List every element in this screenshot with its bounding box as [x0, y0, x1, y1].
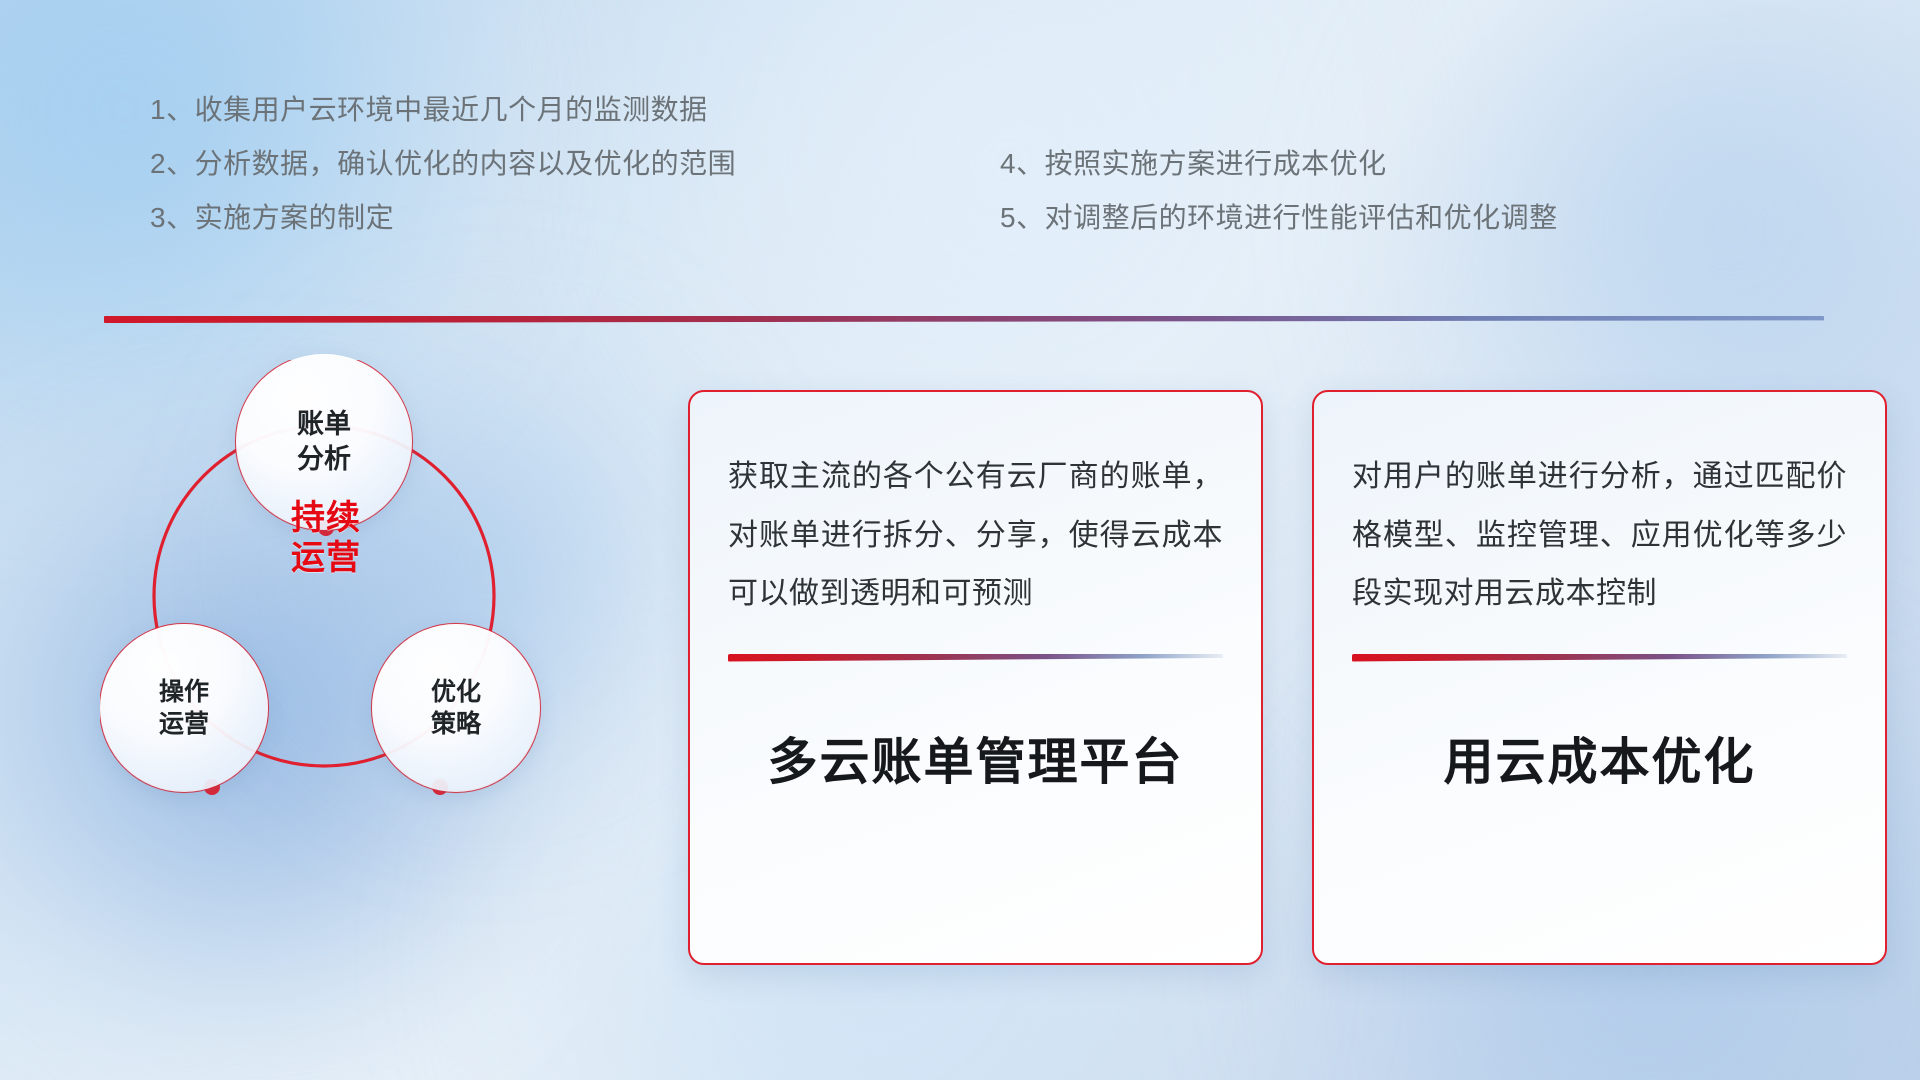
diagram-center-label-line1: 持续 [228, 498, 424, 538]
section-divider-rule [104, 316, 1824, 323]
bubble-optimization-strategy[interactable]: 优化 策略 [372, 624, 540, 792]
card-multi-cloud-billing[interactable]: 获取主流的各个公有云厂商的账单，对账单进行拆分、分享，使得云成本可以做到透明和可… [688, 390, 1263, 965]
bubble-operation[interactable]: 操作 运营 [100, 624, 268, 792]
diagram-center-label: 持续 运营 [228, 498, 424, 578]
step-item-3: 3、实施方案的制定 [150, 204, 910, 232]
bubble-bill-analysis-line2: 分析 [297, 442, 351, 477]
bubble-operation-line2: 运营 [159, 708, 209, 740]
continuous-operation-diagram: 账单 分析 操作 运营 优化 策略 持续 运营 [100, 360, 660, 960]
bubble-bill-analysis-line1: 账单 [297, 407, 351, 442]
card-cloud-cost-optimization-title: 用云成本优化 [1352, 722, 1847, 794]
step-item-5: 5、对调整后的环境进行性能评估和优化调整 [1000, 204, 1760, 232]
step-item-1: 1、收集用户云环境中最近几个月的监测数据 [150, 96, 910, 124]
slide-canvas: 1、收集用户云环境中最近几个月的监测数据 2、分析数据，确认优化的内容以及优化的… [0, 0, 1920, 1080]
card-cloud-cost-optimization[interactable]: 对用户的账单进行分析，通过匹配价格模型、监控管理、应用优化等多少段实现对用云成本… [1312, 390, 1887, 965]
step-item-4: 4、按照实施方案进行成本优化 [1000, 150, 1760, 178]
card-multi-cloud-billing-body: 获取主流的各个公有云厂商的账单，对账单进行拆分、分享，使得云成本可以做到透明和可… [728, 448, 1223, 624]
card-cloud-cost-optimization-divider [1352, 654, 1847, 662]
bubble-operation-line1: 操作 [159, 676, 209, 708]
card-multi-cloud-billing-title: 多云账单管理平台 [728, 722, 1223, 794]
steps-right-column: 4、按照实施方案进行成本优化 5、对调整后的环境进行性能评估和优化调整 [1000, 150, 1760, 258]
steps-left-column: 1、收集用户云环境中最近几个月的监测数据 2、分析数据，确认优化的内容以及优化的… [150, 96, 910, 258]
step-item-2: 2、分析数据，确认优化的内容以及优化的范围 [150, 150, 910, 178]
bubble-optimization-strategy-line2: 策略 [431, 708, 481, 740]
card-cloud-cost-optimization-body: 对用户的账单进行分析，通过匹配价格模型、监控管理、应用优化等多少段实现对用云成本… [1352, 448, 1847, 624]
diagram-center-label-line2: 运营 [228, 538, 424, 578]
bubble-optimization-strategy-line1: 优化 [431, 676, 481, 708]
card-multi-cloud-billing-divider [728, 654, 1223, 662]
